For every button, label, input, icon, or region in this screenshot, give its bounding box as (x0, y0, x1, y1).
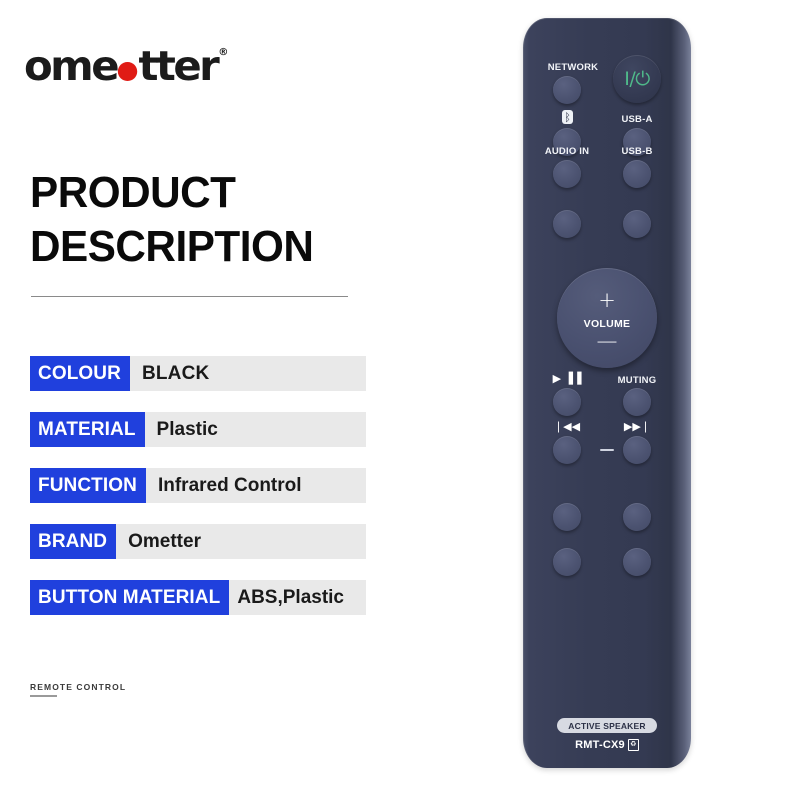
page-title-line1: PRODUCT (30, 166, 385, 220)
label-network: NETWORK (535, 62, 611, 73)
play-pause-icon: ▶ ▐▐ (545, 373, 589, 384)
spec-value-function: Infrared Control (146, 468, 366, 503)
button-unlabeled-right-3[interactable] (623, 548, 651, 576)
logo-text-left: ome (24, 46, 117, 87)
volume-label: VOLUME (584, 318, 631, 330)
table-row: BRAND Ometter (30, 524, 366, 559)
button-previous-track[interactable] (553, 436, 581, 464)
spec-value-material: Plastic (145, 412, 366, 447)
button-network[interactable] (553, 76, 581, 104)
button-unlabeled-right-1[interactable] (623, 210, 651, 238)
power-icon: I/⏻ (624, 70, 650, 89)
volume-down-icon[interactable]: — (597, 337, 618, 345)
footer-caption-text: REMOTE CONTROL (30, 682, 126, 692)
title-divider (31, 296, 348, 297)
logo-trademark-symbol: ® (218, 48, 228, 58)
spec-label-button-material: BUTTON MATERIAL (30, 580, 229, 615)
bluetooth-icon: ᛒ (562, 110, 573, 124)
footer-caption: REMOTE CONTROL (30, 682, 126, 697)
spec-label-function: FUNCTION (30, 468, 146, 503)
brand-logo: ome tter ® (26, 46, 226, 86)
button-unlabeled-right-2[interactable] (623, 503, 651, 531)
footer-caption-rule (30, 695, 57, 697)
table-row: COLOUR BLACK (30, 356, 366, 391)
specification-table: COLOUR BLACK MATERIAL Plastic FUNCTION I… (30, 356, 366, 636)
volume-up-icon[interactable]: + (598, 290, 616, 311)
label-muting: MUTING (605, 375, 669, 386)
previous-track-icon: ❘◀◀ (545, 421, 589, 432)
table-row: BUTTON MATERIAL ABS,Plastic (30, 580, 366, 615)
logo-text-right: tter (138, 46, 217, 87)
spec-value-button-material: ABS,Plastic (229, 580, 366, 615)
model-number: RMT-CX9 ♻ (523, 739, 691, 751)
button-next-track[interactable] (623, 436, 651, 464)
table-row: MATERIAL Plastic (30, 412, 366, 447)
active-speaker-badge: ACTIVE SPEAKER (557, 718, 657, 733)
label-usb-b: USB-B (605, 146, 669, 157)
recycle-mark-icon: ♻ (628, 739, 639, 751)
logo-wordmark: ome tter ® (24, 46, 228, 87)
button-play-pause[interactable] (553, 388, 581, 416)
page-title: PRODUCT DESCRIPTION (30, 166, 385, 273)
spec-label-colour: COLOUR (30, 356, 130, 391)
separator-dash (600, 449, 614, 451)
button-unlabeled-left-2[interactable] (553, 503, 581, 531)
table-row: FUNCTION Infrared Control (30, 468, 366, 503)
button-usb-b[interactable] (623, 160, 651, 188)
spec-value-brand: Ometter (116, 524, 366, 559)
label-usb-a: USB-A (605, 114, 669, 125)
button-muting[interactable] (623, 388, 651, 416)
remote-body: NETWORK I/⏻ ᛒ USB-A AUDIO IN USB-B + VOL… (523, 18, 691, 768)
next-track-icon: ▶▶❘ (615, 421, 659, 432)
button-audio-in[interactable] (553, 160, 581, 188)
label-audio-in: AUDIO IN (535, 146, 599, 157)
model-number-text: RMT-CX9 (575, 739, 625, 751)
spec-value-colour: BLACK (130, 356, 366, 391)
spec-label-material: MATERIAL (30, 412, 145, 447)
button-power[interactable]: I/⏻ (613, 55, 661, 103)
button-unlabeled-left-3[interactable] (553, 548, 581, 576)
button-unlabeled-left-1[interactable] (553, 210, 581, 238)
product-info-panel: ome tter ® PRODUCT DESCRIPTION COLOUR BL… (0, 0, 420, 800)
spec-label-brand: BRAND (30, 524, 116, 559)
logo-red-dot-icon (118, 62, 137, 81)
page-title-line2: DESCRIPTION (30, 220, 385, 274)
remote-control-product-image: NETWORK I/⏻ ᛒ USB-A AUDIO IN USB-B + VOL… (523, 18, 691, 768)
volume-control-wheel[interactable]: + VOLUME — (557, 268, 657, 368)
